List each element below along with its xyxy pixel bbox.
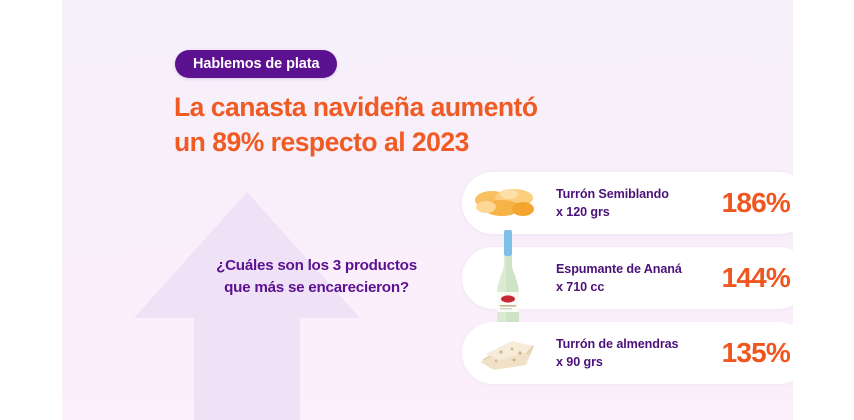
question-line-1: ¿Cuáles son los 3 productos: [216, 257, 417, 274]
list-item: Turrón Semiblando x 120 grs 186%: [462, 172, 793, 234]
product-percent: 135%: [722, 337, 793, 369]
status-badge: Hablemos de plata: [175, 50, 337, 78]
product-percent: 186%: [722, 187, 793, 219]
page-title: La canasta navideña aumentó un 89% respe…: [174, 90, 644, 160]
turron-semiblando-image: [462, 172, 554, 234]
up-arrow-icon: [132, 190, 362, 420]
product-info: Turrón de almendras x 90 grs: [554, 335, 722, 372]
list-item: Turrón de almendras x 90 grs 135%: [462, 322, 793, 384]
product-percent: 144%: [722, 262, 793, 294]
product-name: Turrón de almendras: [556, 337, 678, 351]
question-text: ¿Cuáles son los 3 productos que más se e…: [184, 255, 449, 298]
question-line-2: que más se encarecieron?: [184, 277, 449, 299]
product-quantity: x 710 cc: [556, 278, 722, 296]
product-name: Espumante de Ananá: [556, 262, 682, 276]
product-info: Espumante de Ananá x 710 cc: [554, 260, 722, 297]
product-quantity: x 90 grs: [556, 353, 722, 371]
headline-line-2: un 89% respecto al 2023: [174, 125, 644, 160]
product-name: Turrón Semiblando: [556, 187, 669, 201]
infographic-panel: Hablemos de plata La canasta navideña au…: [62, 0, 793, 420]
list-item: Espumante de Ananá x 710 cc 144%: [462, 247, 793, 309]
infographic-screenshot: Hablemos de plata La canasta navideña au…: [0, 0, 854, 420]
product-list: Turrón Semiblando x 120 grs 186%: [462, 172, 793, 384]
headline-line-1: La canasta navideña aumentó: [174, 92, 538, 122]
badge-label: Hablemos de plata: [193, 56, 319, 72]
product-info: Turrón Semiblando x 120 grs: [554, 185, 722, 222]
product-quantity: x 120 grs: [556, 203, 722, 221]
turron-almendras-image: [462, 322, 554, 384]
espumante-bottle-image: [462, 247, 554, 309]
